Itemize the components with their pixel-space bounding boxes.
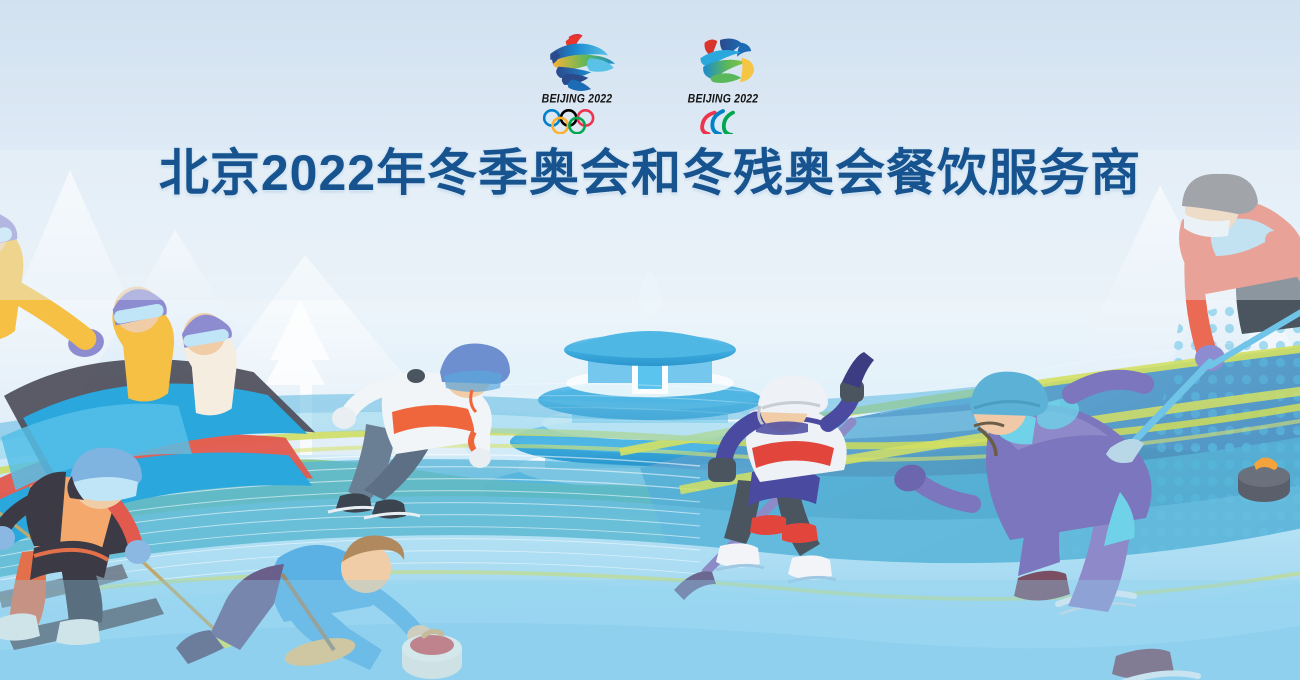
beijing-2022-olympic-emblem: BEIJING 2022: [527, 30, 627, 134]
page-title: 北京2022年冬季奥会和冬残奥会餐饮服务商: [159, 142, 1141, 204]
beijing-2022-paralympic-emblem: BEIJING 2022: [673, 30, 773, 134]
paralympic-wordmark: BEIJING 2022: [688, 92, 759, 105]
leap-ribbon-icon: [680, 30, 766, 92]
agitos-icon: [681, 108, 765, 134]
emblem-row: BEIJING 2022: [0, 30, 1300, 134]
olympic-rings-icon: [535, 108, 619, 134]
beijing-2022-catering-sponsor-banner: BEIJING 2022: [0, 0, 1300, 680]
page-title-wrap: 北京2022年冬季奥会和冬残奥会餐饮服务商: [0, 142, 1300, 204]
winter-dream-ribbon-icon: [534, 30, 620, 92]
olympic-wordmark: BEIJING 2022: [542, 92, 613, 105]
